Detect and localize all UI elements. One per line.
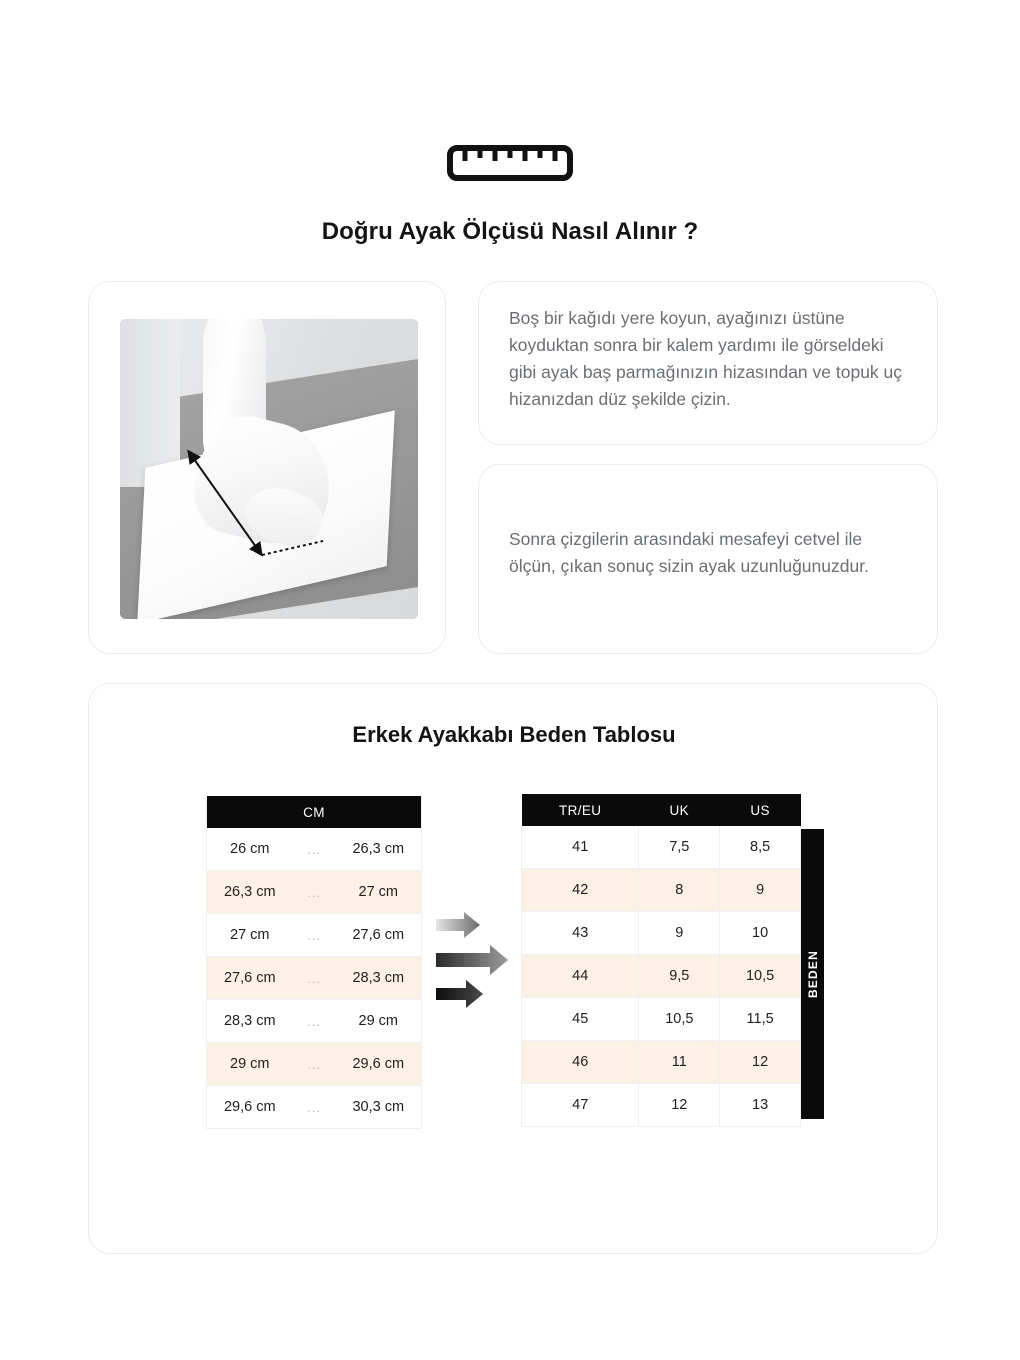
instruction-text-1: Boş bir kağıdı yere koyun, ayağınızı üst… [509,305,909,413]
cm-to: 26,3 cm [336,828,422,871]
table-row: 29 cm ... 29,6 cm [207,1043,422,1086]
arrow-icon-3 [436,980,483,1008]
instruction-card-1: Boş bir kağıdı yere koyun, ayağınızı üst… [478,281,938,445]
table-row: 43 9 10 [522,912,801,955]
cm-from: 28,3 cm [207,1000,293,1043]
cm-separator: ... [293,828,336,871]
size-us: 13 [720,1084,801,1127]
size-eu: 42 [522,869,639,912]
table-row: 27 cm ... 27,6 cm [207,914,422,957]
cm-separator: ... [293,1086,336,1129]
size-guide-page: Doğru Ayak Ölçüsü Nasıl Alınır ? [0,0,1020,1360]
cm-separator: ... [293,957,336,1000]
table-row: 41 7,5 8,5 [522,826,801,869]
size-header-uk: UK [639,794,720,826]
cm-separator: ... [293,1000,336,1043]
table-row: 27,6 cm ... 28,3 cm [207,957,422,1000]
cm-from: 29,6 cm [207,1086,293,1129]
size-eu: 46 [522,1041,639,1084]
cm-table-header-row: CM [207,796,422,828]
ruler-icon [446,142,574,182]
cm-separator: ... [293,871,336,914]
conversion-arrows [434,909,524,1014]
size-uk: 9,5 [639,955,720,998]
size-us: 9 [720,869,801,912]
size-uk: 7,5 [639,826,720,869]
cm-to: 29 cm [336,1000,422,1043]
cm-from: 26 cm [207,828,293,871]
arrow-icon-2 [436,945,508,975]
size-eu: 45 [522,998,639,1041]
size-header-eu: TR/EU [522,794,639,826]
cm-separator: ... [293,914,336,957]
cm-separator: ... [293,1043,336,1086]
cm-to: 30,3 cm [336,1086,422,1129]
table-row: 47 12 13 [522,1084,801,1127]
cm-to: 28,3 cm [336,957,422,1000]
arrow-icon-1 [436,912,480,938]
cm-to: 27 cm [336,871,422,914]
cm-from: 27 cm [207,914,293,957]
size-chart-card: Erkek Ayakkabı Beden Tablosu CM 26 cm ..… [88,683,938,1254]
instruction-card-2: Sonra çizgilerin arasındaki mesafeyi cet… [478,464,938,654]
size-eu: 41 [522,826,639,869]
table-row: 44 9,5 10,5 [522,955,801,998]
foot-measure-photo-card [88,281,446,654]
size-uk: 8 [639,869,720,912]
size-uk: 9 [639,912,720,955]
beden-label: BEDEN [806,950,820,998]
size-uk: 11 [639,1041,720,1084]
table-row: 29,6 cm ... 30,3 cm [207,1086,422,1129]
size-table-header-row: TR/EU UK US [522,794,801,826]
table-row: 26,3 cm ... 27 cm [207,871,422,914]
size-us: 10 [720,912,801,955]
table-row: 46 11 12 [522,1041,801,1084]
size-us: 8,5 [720,826,801,869]
size-us: 10,5 [720,955,801,998]
size-table: TR/EU UK US 41 7,5 8,5 42 8 9 43 [521,794,801,1127]
cm-from: 27,6 cm [207,957,293,1000]
size-uk: 10,5 [639,998,720,1041]
cm-from: 26,3 cm [207,871,293,914]
size-chart-title: Erkek Ayakkabı Beden Tablosu [89,722,939,748]
cm-table: CM 26 cm ... 26,3 cm 26,3 cm ... 27 cm 2… [206,796,422,1129]
size-eu: 44 [522,955,639,998]
cm-from: 29 cm [207,1043,293,1086]
table-row: 28,3 cm ... 29 cm [207,1000,422,1043]
measurement-arrow-icon [120,319,418,619]
arrow-group-icon [434,909,524,1014]
table-row: 45 10,5 11,5 [522,998,801,1041]
size-us: 12 [720,1041,801,1084]
size-us: 11,5 [720,998,801,1041]
ruler-icon-container [0,142,1020,187]
size-eu: 43 [522,912,639,955]
page-title: Doğru Ayak Ölçüsü Nasıl Alınır ? [0,218,1020,246]
table-row: 26 cm ... 26,3 cm [207,828,422,871]
cm-to: 29,6 cm [336,1043,422,1086]
instruction-text-2: Sonra çizgilerin arasındaki mesafeyi cet… [509,526,909,580]
size-uk: 12 [639,1084,720,1127]
cm-table-header: CM [207,796,422,828]
size-eu: 47 [522,1084,639,1127]
cm-to: 27,6 cm [336,914,422,957]
table-row: 42 8 9 [522,869,801,912]
size-header-us: US [720,794,801,826]
foot-measure-photo [120,319,418,619]
beden-side-bar: BEDEN [801,829,824,1119]
